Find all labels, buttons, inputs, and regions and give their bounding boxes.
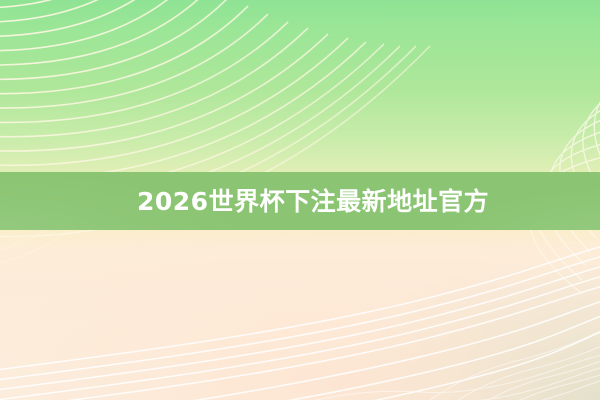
promo-banner: 2026世界杯下注最新地址官方	[0, 0, 600, 400]
title-band: 2026世界杯下注最新地址官方	[0, 172, 600, 230]
page-title: 2026世界杯下注最新地址官方	[137, 189, 489, 214]
